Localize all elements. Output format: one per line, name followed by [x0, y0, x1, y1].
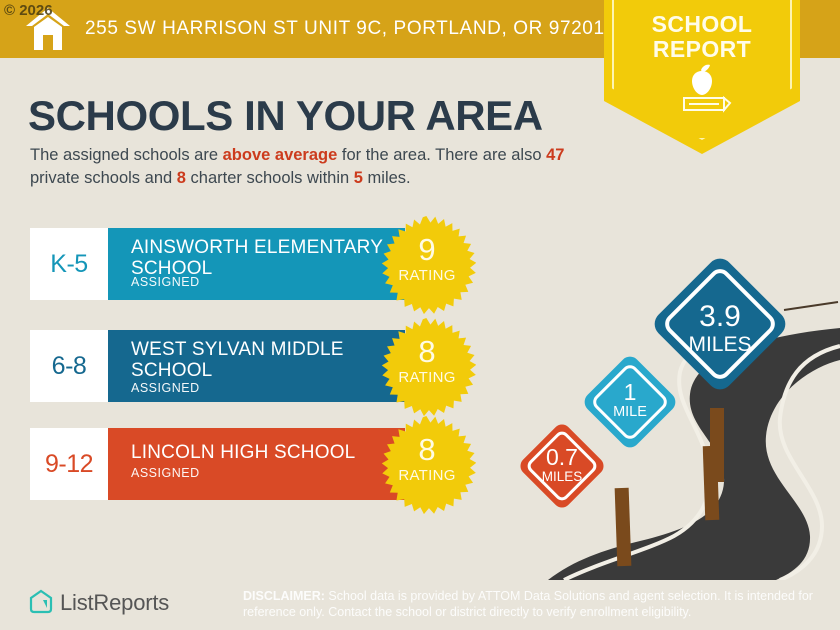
school-name-bar: WEST SYLVAN MIDDLE SCHOOL ASSIGNED: [108, 330, 405, 402]
rating-word-label: RATING: [378, 369, 476, 386]
subtitle-highlight-private-count: 47: [546, 146, 564, 164]
disclaimer-label: DISCLAIMER:: [243, 589, 325, 603]
rating-value: 8: [378, 434, 476, 465]
badge-title-line1: SCHOOL: [652, 11, 753, 37]
rating-badge: 8 RATING: [378, 318, 476, 416]
badge-title-line2: REPORT: [653, 36, 751, 62]
school-name-bar: AINSWORTH ELEMENTARY SCHOOL ASSIGNED: [108, 228, 405, 300]
school-row[interactable]: 9-12 LINCOLN HIGH SCHOOL ASSIGNED 8 RATI…: [30, 428, 470, 500]
school-row[interactable]: 6-8 WEST SYLVAN MIDDLE SCHOOL ASSIGNED 8…: [30, 330, 470, 402]
grade-range-box: 9-12: [30, 428, 108, 500]
rating-word-label: RATING: [378, 467, 476, 484]
infographic-canvas: 255 SW HARRISON ST UNIT 9C, PORTLAND, OR…: [0, 0, 840, 630]
subtitle-highlight-rating: above average: [223, 146, 338, 164]
rating-value: 9: [378, 234, 476, 265]
school-name-label: WEST SYLVAN MIDDLE SCHOOL: [131, 339, 401, 381]
assigned-status-label: ASSIGNED: [131, 381, 200, 395]
subtitle-part2: for the area. There are also: [337, 146, 546, 164]
grade-range-label: 6-8: [52, 352, 87, 381]
disclaimer-body: School data is provided by ATTOM Data So…: [243, 589, 813, 619]
subtitle-highlight-charter-count: 8: [177, 169, 186, 187]
grade-range-label: 9-12: [45, 450, 93, 479]
listreports-logo-text: ListReports: [60, 590, 169, 616]
school-report-badge: SCHOOL REPORT: [604, 0, 800, 154]
distance-sign-0-unit: MILES: [524, 470, 600, 484]
assigned-status-label: ASSIGNED: [131, 275, 200, 289]
subtitle-part5: miles.: [363, 169, 411, 187]
distance-sign-2-unit: MILES: [664, 334, 776, 355]
school-row[interactable]: K-5 AINSWORTH ELEMENTARY SCHOOL ASSIGNED…: [30, 228, 470, 300]
copyright-watermark: © 2026: [4, 2, 53, 19]
rating-value: 8: [378, 336, 476, 367]
subtitle-part3: private schools and: [30, 169, 177, 187]
apple-and-book-icon: [670, 64, 734, 114]
distance-sign-2-value: 3.9: [664, 302, 776, 332]
school-name-label: LINCOLN HIGH SCHOOL: [131, 442, 401, 463]
assigned-status-label: ASSIGNED: [131, 466, 200, 480]
rating-badge: 8 RATING: [378, 416, 476, 514]
disclaimer-text: DISCLAIMER: School data is provided by A…: [243, 588, 833, 620]
page-title: SCHOOLS IN YOUR AREA: [28, 92, 543, 140]
listreports-house-pin-icon: [28, 589, 54, 615]
subtitle: The assigned schools are above average f…: [30, 144, 590, 190]
subtitle-part1: The assigned schools are: [30, 146, 223, 164]
school-name-bar: LINCOLN HIGH SCHOOL ASSIGNED: [108, 428, 405, 500]
property-address: 255 SW HARRISON ST UNIT 9C, PORTLAND, OR…: [85, 18, 605, 40]
grade-range-box: 6-8: [30, 330, 108, 402]
subtitle-highlight-radius: 5: [354, 169, 363, 187]
badge-title: SCHOOL REPORT: [604, 12, 800, 62]
rating-badge: 9 RATING: [378, 216, 476, 314]
subtitle-part4: charter schools within: [186, 169, 354, 187]
distance-sign-1-unit: MILE: [592, 405, 668, 420]
grade-range-label: K-5: [50, 250, 87, 279]
grade-range-box: K-5: [30, 228, 108, 300]
rating-word-label: RATING: [378, 267, 476, 284]
school-name-label: AINSWORTH ELEMENTARY SCHOOL: [131, 237, 401, 279]
